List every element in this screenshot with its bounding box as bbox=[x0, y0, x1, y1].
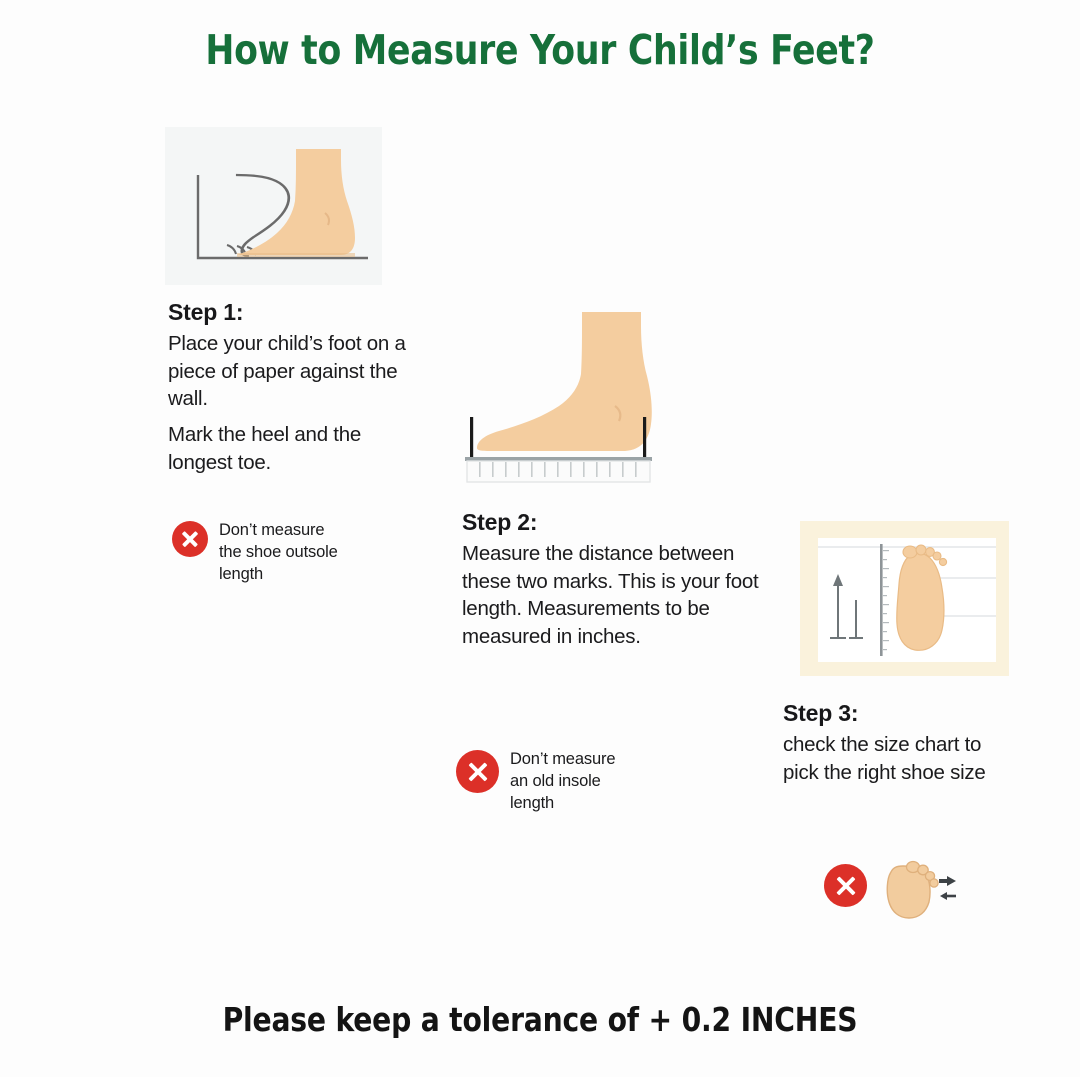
step-2-warning-line-1: Don’t measure bbox=[510, 749, 615, 771]
step-1-warning-line-1: Don’t measure bbox=[219, 520, 338, 542]
step-3-text-block: Step 3: check the size chart to pick the… bbox=[783, 700, 1018, 786]
red-circle-x-icon bbox=[824, 864, 867, 907]
step-3-paragraph-1: check the size chart to pick the right s… bbox=[783, 731, 1018, 786]
tolerance-note: Please keep a tolerance of + 0.2 INCHES bbox=[27, 1000, 1053, 1039]
step-1-warning-line-2: the shoe outsole bbox=[219, 542, 338, 564]
step-1-illustration bbox=[165, 127, 382, 285]
step-2-text-block: Step 2: Measure the distance between the… bbox=[462, 509, 782, 651]
step-1-paragraph-2: Mark the heel and the longest toe. bbox=[168, 421, 408, 476]
page-title: How to Measure Your Child’s Feet? bbox=[32, 26, 1047, 74]
step-2-warning: Don’t measure an old insole length bbox=[456, 748, 671, 815]
step-1-warning: Don’t measure the shoe outsole length bbox=[172, 519, 387, 586]
step-2-warning-line-2: an old insole bbox=[510, 771, 615, 793]
step-2-warning-text: Don’t measure an old insole length bbox=[510, 748, 615, 815]
step-3-warning bbox=[824, 862, 867, 907]
step-1-body: Place your child’s foot on a piece of pa… bbox=[168, 330, 408, 476]
step-2-paragraph-1: Measure the distance between these two m… bbox=[462, 540, 782, 651]
infographic-root: How to Measure Your Child’s Feet? Step 1… bbox=[0, 0, 1080, 1077]
step-2-body: Measure the distance between these two m… bbox=[462, 540, 782, 651]
step-1-warning-text: Don’t measure the shoe outsole length bbox=[219, 519, 338, 586]
red-circle-x-icon bbox=[456, 750, 499, 793]
step-1-paragraph-1: Place your child’s foot on a piece of pa… bbox=[168, 330, 408, 413]
foot-sole-with-inward-arrows-icon bbox=[883, 858, 957, 924]
step-3-body: check the size chart to pick the right s… bbox=[783, 731, 1018, 786]
step-3-illustration bbox=[800, 521, 1009, 676]
step-3-chart-card bbox=[818, 538, 996, 662]
step-3-heading: Step 3: bbox=[783, 700, 1018, 727]
step-1-text-block: Step 1: Place your child’s foot on a pie… bbox=[168, 299, 408, 476]
step-1-warning-line-3: length bbox=[219, 564, 338, 586]
step-2-warning-line-3: length bbox=[510, 793, 615, 815]
step-2-illustration bbox=[455, 300, 680, 490]
step-2-heading: Step 2: bbox=[462, 509, 782, 536]
red-circle-x-icon bbox=[172, 521, 208, 557]
step-1-heading: Step 1: bbox=[168, 299, 408, 326]
